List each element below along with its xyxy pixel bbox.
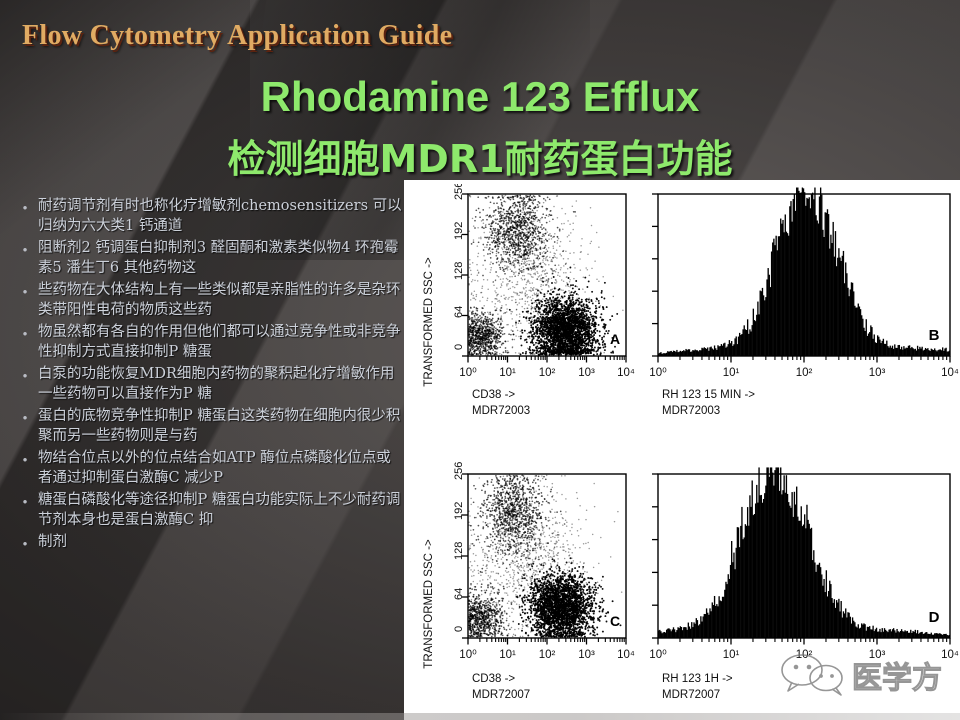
plot-c-ytick-128: 128 [453, 542, 465, 560]
plot-b-bars [652, 188, 950, 356]
page-title-chinese: 检测细胞MDR1耐药蛋白功能 [0, 128, 960, 183]
xtick-label-2: 10² [796, 367, 813, 379]
plot-c-panel-label: C [610, 613, 620, 629]
bullet-text: 耐药调节剂有时也称化疗增敏剂chemosensitizers 可以归纳为六大类1… [38, 196, 404, 236]
plot-a-svg: TRANSFORMED SSC -> 256 192 128 64 0 10⁰1… [410, 184, 648, 420]
xtick-label-2: 10² [796, 649, 813, 661]
xtick-label-0: 10⁰ [649, 649, 667, 661]
list-item: •些药物在大体结构上有一些类似都是亲脂性的许多是杂环类带阳性电荷的物质这些药 [12, 280, 404, 320]
plot-b-panel-label: B [929, 327, 940, 344]
xtick-label-1: 10¹ [499, 649, 516, 661]
plot-a-xlabel: CD38 -> [472, 389, 515, 401]
plot-d-histogram: 10⁰10¹10²10³10⁴ D RH 123 1H -> MDR72007 [648, 462, 960, 706]
plot-a-ytick-192: 192 [453, 222, 465, 240]
plot-c-ylabel: TRANSFORMED SSC -> [423, 539, 435, 669]
plot-c-svg: TRANSFORMED SSC -> 256 192 128 64 0 10⁰1… [410, 462, 648, 706]
xtick-label-4: 10⁴ [941, 649, 959, 661]
bullet-marker-icon: • [12, 322, 38, 344]
xtick-label-0: 10⁰ [459, 367, 477, 379]
list-item: •白泵的功能恢复MDR细胞内药物的聚积起化疗增敏作用一些药物可以直接作为P 糖 [12, 364, 404, 404]
plot-d-xticks: 10⁰10¹10²10³10⁴ [649, 638, 959, 661]
plot-d-bars [652, 467, 950, 638]
plot-a-scatter: TRANSFORMED SSC -> 256 192 128 64 0 10⁰1… [410, 184, 648, 420]
plot-a-xticks: 10⁰10¹10²10³10⁴ [459, 356, 635, 379]
bullet-marker-icon: • [12, 448, 38, 470]
bullet-text: 制剂 [38, 532, 404, 552]
plot-c-xlabel: CD38 -> [472, 673, 515, 685]
plot-a-points [462, 194, 624, 356]
list-item: •物结合位点以外的位点结合如ATP 酶位点磷酸化位点或者通过抑制蛋白激酶C 减少… [12, 448, 404, 488]
plot-a-axis-labels: TRANSFORMED SSC -> 256 192 128 64 0 [423, 184, 465, 387]
plot-b-histogram: 10⁰10¹10²10³10⁴ B RH 123 15 MIN -> MDR72… [648, 184, 960, 420]
plot-c-ytick-64: 64 [453, 588, 465, 600]
plot-d-sample: MDR72007 [662, 689, 720, 701]
plot-a-panel-label: A [610, 331, 620, 347]
plot-c-sample: MDR72007 [472, 689, 530, 701]
list-item: •糖蛋白磷酸化等途径抑制P 糖蛋白功能实际上不少耐药调节剂本身也是蛋白激酶C 抑 [12, 490, 404, 530]
xtick-label-3: 10³ [578, 367, 595, 379]
page-title-english: Rhodamine 123 Efflux [0, 73, 960, 121]
figure-panel: TRANSFORMED SSC -> 256 192 128 64 0 10⁰1… [404, 180, 960, 720]
plot-c-xticks: 10⁰10¹10²10³10⁴ [459, 638, 635, 661]
bullet-marker-icon: • [12, 238, 38, 260]
plot-d-svg: 10⁰10¹10²10³10⁴ D RH 123 1H -> MDR72007 [648, 462, 960, 706]
bullet-text: 物虽然都有各自的作用但他们都可以通过竞争性或非竞争性抑制方式直接抑制P 糖蛋 [38, 322, 404, 362]
plot-a-ytick-0: 0 [453, 344, 465, 350]
xtick-label-1: 10¹ [723, 367, 740, 379]
xtick-label-2: 10² [539, 367, 556, 379]
xtick-label-1: 10¹ [723, 649, 740, 661]
bullet-text: 糖蛋白磷酸化等途径抑制P 糖蛋白功能实际上不少耐药调节剂本身也是蛋白激酶C 抑 [38, 490, 404, 530]
bullet-marker-icon: • [12, 364, 38, 386]
xtick-label-2: 10² [539, 649, 556, 661]
bullet-text: 阻断剂2 钙调蛋白抑制剂3 醛固酮和激素类似物4 环孢霉素5 潘生丁6 其他药物… [38, 238, 404, 278]
list-item: •耐药调节剂有时也称化疗增敏剂chemosensitizers 可以归纳为六大类… [12, 196, 404, 236]
plot-c-scatter: TRANSFORMED SSC -> 256 192 128 64 0 10⁰1… [410, 462, 648, 706]
xtick-label-0: 10⁰ [649, 367, 667, 379]
bullet-text: 蛋白的底物竞争性抑制P 糖蛋白这类药物在细胞内很少积聚而另一些药物则是与药 [38, 406, 404, 446]
plot-b-sample: MDR72003 [662, 405, 720, 417]
slide-canvas: Flow Cytometry Application Guide Rhodami… [0, 0, 960, 720]
bullet-marker-icon: • [12, 490, 38, 512]
xtick-label-3: 10³ [869, 649, 886, 661]
plot-b-svg: 10⁰10¹10²10³10⁴ B RH 123 15 MIN -> MDR72… [648, 184, 960, 420]
bullet-text: 些药物在大体结构上有一些类似都是亲脂性的许多是杂环类带阳性电荷的物质这些药 [38, 280, 404, 320]
plot-b-xticks: 10⁰10¹10²10³10⁴ [649, 356, 959, 379]
list-item: •蛋白的底物竞争性抑制P 糖蛋白这类药物在细胞内很少积聚而另一些药物则是与药 [12, 406, 404, 446]
bullet-marker-icon: • [12, 532, 38, 554]
xtick-label-4: 10⁴ [941, 367, 959, 379]
bullet-text: 物结合位点以外的位点结合如ATP 酶位点磷酸化位点或者通过抑制蛋白激酶C 减少P [38, 448, 404, 488]
plot-a-ytick-256: 256 [453, 184, 465, 200]
plot-a-ytick-64: 64 [453, 306, 465, 318]
list-item: •阻断剂2 钙调蛋白抑制剂3 醛固酮和激素类似物4 环孢霉素5 潘生丁6 其他药… [12, 238, 404, 278]
xtick-label-1: 10¹ [499, 367, 516, 379]
plot-a-ylabel: TRANSFORMED SSC -> [423, 257, 435, 387]
bullet-list: •耐药调节剂有时也称化疗增敏剂chemosensitizers 可以归纳为六大类… [12, 196, 404, 556]
plot-c-axis-labels: TRANSFORMED SSC -> 256 192 128 64 0 [423, 462, 465, 669]
plot-d-panel-label: D [929, 609, 940, 626]
bullet-text: 白泵的功能恢复MDR细胞内药物的聚积起化疗增敏作用一些药物可以直接作为P 糖 [38, 364, 404, 404]
plot-d-xlabel: RH 123 1H -> [662, 673, 733, 685]
plot-a-sample: MDR72003 [472, 405, 530, 417]
bullet-marker-icon: • [12, 196, 38, 218]
xtick-label-4: 10⁴ [617, 367, 635, 379]
plot-b-xlabel: RH 123 15 MIN -> [662, 389, 755, 401]
plot-c-ytick-256: 256 [453, 462, 465, 480]
plot-a-ytick-128: 128 [453, 262, 465, 280]
xtick-label-0: 10⁰ [459, 649, 477, 661]
list-item: •制剂 [12, 532, 404, 554]
plot-c-ytick-192: 192 [453, 502, 465, 520]
bullet-marker-icon: • [12, 280, 38, 302]
bullet-marker-icon: • [12, 406, 38, 428]
xtick-label-4: 10⁴ [617, 649, 635, 661]
plot-c-ytick-0: 0 [453, 626, 465, 632]
plot-c-points [462, 474, 622, 638]
xtick-label-3: 10³ [869, 367, 886, 379]
slide-header: Flow Cytometry Application Guide [22, 20, 452, 52]
list-item: •物虽然都有各自的作用但他们都可以通过竞争性或非竞争性抑制方式直接抑制P 糖蛋 [12, 322, 404, 362]
xtick-label-3: 10³ [578, 649, 595, 661]
